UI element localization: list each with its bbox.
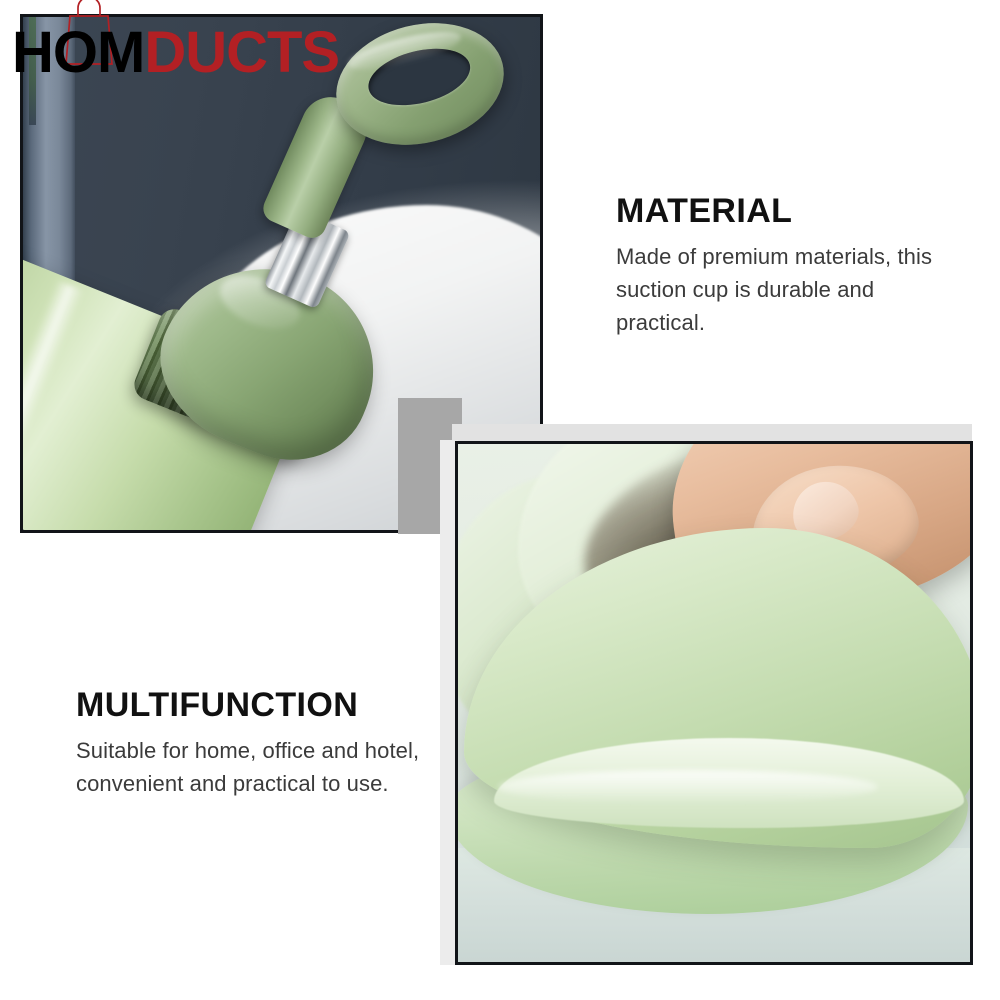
feature-title-material: MATERIAL bbox=[616, 192, 966, 230]
feature-title-multifunction: MULTIFUNCTION bbox=[76, 686, 466, 724]
feature-body-multifunction: Suitable for home, office and hotel, con… bbox=[76, 734, 466, 800]
feature-body-material: Made of premium materials, this suction … bbox=[616, 240, 966, 339]
product-photo-silicone-lid bbox=[455, 441, 973, 965]
lid-scene-background bbox=[458, 444, 970, 962]
pump-wall-edge bbox=[29, 17, 36, 125]
feature-block-multifunction: MULTIFUNCTION Suitable for home, office … bbox=[76, 686, 466, 800]
infographic-canvas: HOMDUCTS MATERIAL Made of premium materi… bbox=[0, 0, 1000, 1000]
shopping-bag-icon bbox=[58, 0, 120, 68]
lid-rim-gloss bbox=[498, 770, 878, 804]
pump-body-highlight bbox=[20, 280, 85, 504]
feature-block-material: MATERIAL Made of premium materials, this… bbox=[616, 192, 966, 339]
